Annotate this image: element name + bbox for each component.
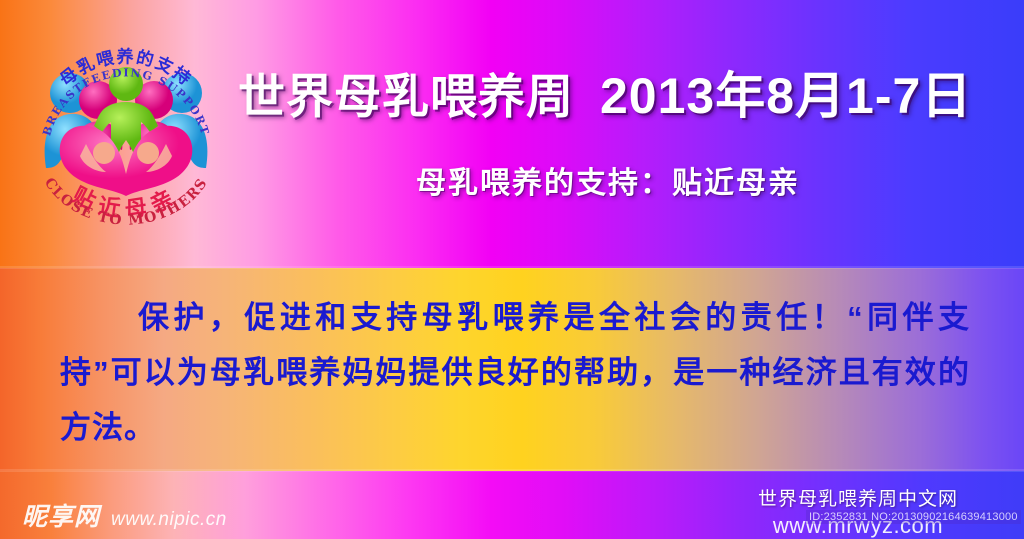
band-seam-lower xyxy=(0,469,1024,472)
nipic-brand-name: 昵享网 xyxy=(22,497,100,533)
poster-canvas: 母乳喂养的支持 BREASTFEEDING SUPPORT 贴近母亲 CLOSE… xyxy=(0,0,1024,539)
image-id-stamp: ID:2352831 NO:20130902164639413000 xyxy=(806,510,1021,524)
nipic-watermark: 昵享网 www.nipic.cn xyxy=(22,497,227,533)
breastfeeding-support-logo: 母乳喂养的支持 BREASTFEEDING SUPPORT 贴近母亲 CLOSE… xyxy=(26,18,226,233)
nipic-url: www.nipic.cn xyxy=(111,509,227,531)
poster-body-text: 保护，促进和支持母乳喂养是全社会的责任！“同伴支持”可以为母乳喂养妈妈提供良好的… xyxy=(60,290,970,455)
poster-headline: 世界母乳喂养周 2013年8月1-7日 xyxy=(238,58,978,126)
headline-chinese: 世界母乳喂养周 xyxy=(238,58,574,127)
headline-date-range: 2013年8月1-7日 xyxy=(600,56,972,128)
band-seam-upper xyxy=(0,266,1024,269)
source-site-name: 世界母乳喂养周中文网 xyxy=(758,484,958,511)
poster-subtitle: 母乳喂养的支持：贴近母亲 xyxy=(238,158,978,202)
